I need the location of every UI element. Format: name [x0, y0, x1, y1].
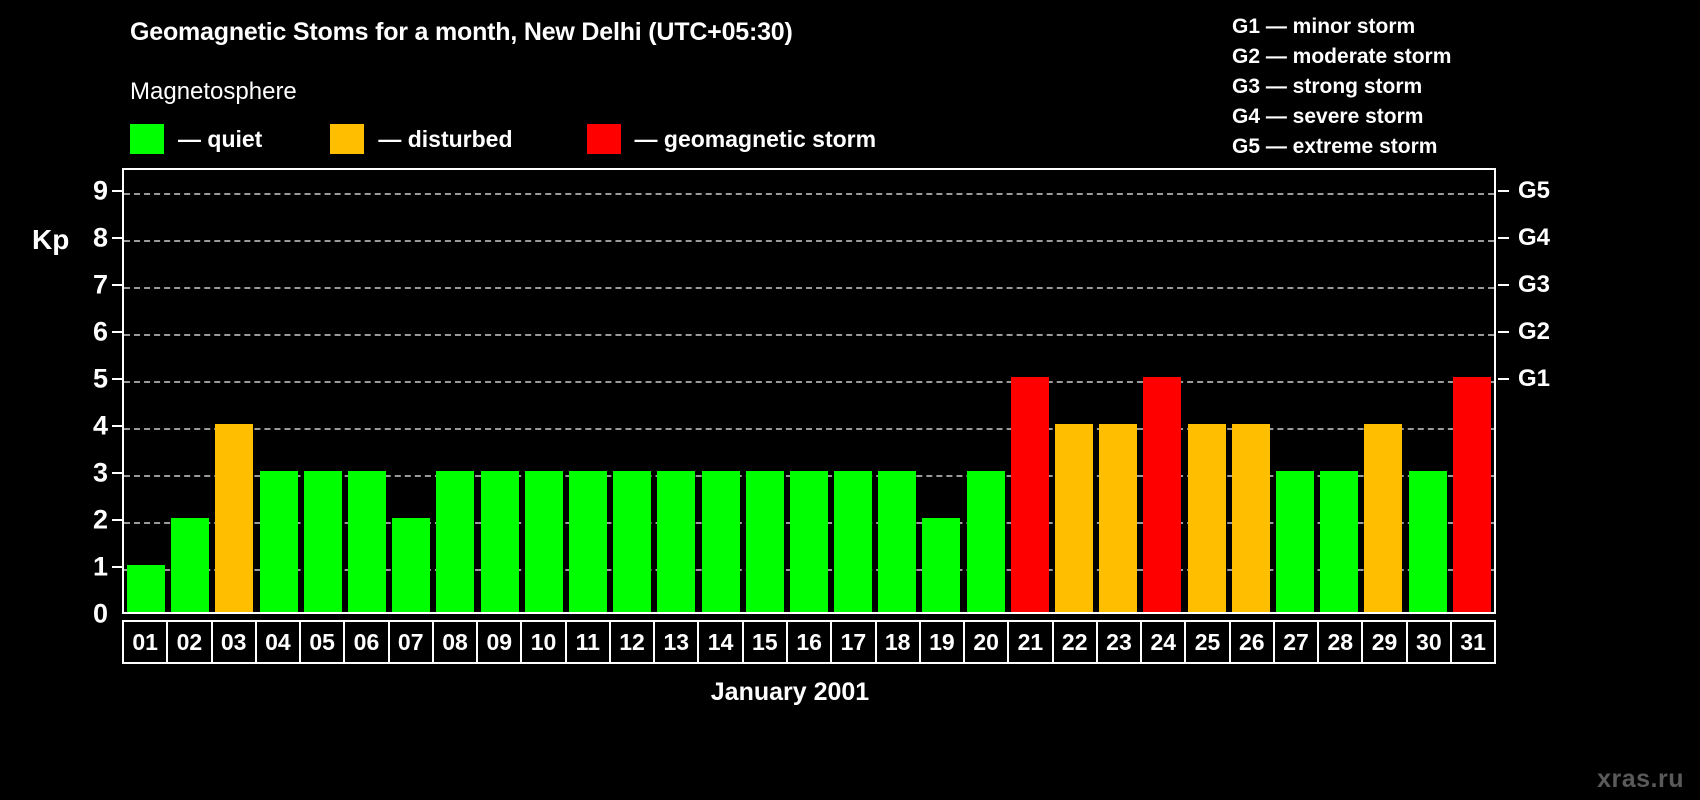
g-tick-label: G5	[1518, 177, 1550, 205]
bar[interactable]	[215, 424, 253, 612]
x-tick-label[interactable]: 27	[1275, 622, 1319, 662]
bar-cell[interactable]	[433, 170, 477, 612]
bar-cell[interactable]	[1008, 170, 1052, 612]
y-tick-label: 3	[93, 458, 108, 489]
g-tick-mark	[1498, 284, 1509, 286]
bar-cell[interactable]	[698, 170, 742, 612]
y-tick-mark	[112, 519, 122, 521]
bar[interactable]	[1232, 424, 1270, 612]
bar[interactable]	[525, 471, 563, 612]
y-tick-mark	[112, 190, 122, 192]
gscale-legend-line: G4 — severe storm	[1232, 102, 1451, 132]
bar[interactable]	[1320, 471, 1358, 612]
x-tick-label[interactable]: 30	[1408, 622, 1452, 662]
bar-cell[interactable]	[301, 170, 345, 612]
bar-cell[interactable]	[654, 170, 698, 612]
bar-cell[interactable]	[1361, 170, 1405, 612]
g-tick-label: G2	[1518, 318, 1550, 346]
y-tick-label: 1	[93, 552, 108, 583]
bar[interactable]	[392, 518, 430, 612]
bar[interactable]	[1276, 471, 1314, 612]
g-tick-label: G4	[1518, 224, 1550, 252]
bar[interactable]	[613, 471, 651, 612]
bar[interactable]	[657, 471, 695, 612]
y-tick-mark	[112, 237, 122, 239]
y-tick-mark	[112, 378, 122, 380]
legend-heading: Magnetosphere	[130, 78, 297, 106]
bar[interactable]	[790, 471, 828, 612]
legend-swatch-quiet-icon	[130, 124, 164, 154]
watermark: xras.ru	[1597, 765, 1684, 794]
bar[interactable]	[922, 518, 960, 612]
bar-cell[interactable]	[919, 170, 963, 612]
gscale-legend-line: G3 — strong storm	[1232, 72, 1451, 102]
legend-label-storm: — geomagnetic storm	[635, 126, 877, 153]
x-tick-label[interactable]: 09	[478, 622, 522, 662]
bar-cell[interactable]	[1140, 170, 1184, 612]
bar[interactable]	[1055, 424, 1093, 612]
bar-cell[interactable]	[743, 170, 787, 612]
legend-item-disturbed: — disturbed	[330, 124, 512, 154]
x-tick-label[interactable]: 08	[434, 622, 478, 662]
bar-cell[interactable]	[1450, 170, 1494, 612]
bar[interactable]	[304, 471, 342, 612]
x-tick-label[interactable]: 05	[301, 622, 345, 662]
x-tick-label[interactable]: 23	[1098, 622, 1142, 662]
y-tick-mark	[112, 284, 122, 286]
right-g-axis: G1G2G3G4G5	[1498, 168, 1698, 614]
g-tick-mark	[1498, 331, 1509, 333]
gscale-legend-line: G2 — moderate storm	[1232, 42, 1451, 72]
bar-cell[interactable]	[522, 170, 566, 612]
bar[interactable]	[878, 471, 916, 612]
y-tick-label: 8	[93, 223, 108, 254]
x-tick-label[interactable]: 15	[744, 622, 788, 662]
bar-cell[interactable]	[1052, 170, 1096, 612]
x-tick-label[interactable]: 02	[168, 622, 212, 662]
bar-cell[interactable]	[787, 170, 831, 612]
bar-cell[interactable]	[168, 170, 212, 612]
bar[interactable]	[1453, 377, 1491, 612]
bar-cell[interactable]	[1317, 170, 1361, 612]
y-axis-title: Kp	[32, 224, 69, 256]
bar[interactable]	[436, 471, 474, 612]
bar-cell[interactable]	[124, 170, 168, 612]
gscale-legend-line: G1 — minor storm	[1232, 12, 1451, 42]
bar[interactable]	[348, 471, 386, 612]
x-axis-day-labels: 0102030405060708091011121314151617181920…	[122, 620, 1496, 664]
legend-label-quiet: — quiet	[178, 126, 262, 153]
legend-item-storm: — geomagnetic storm	[587, 124, 877, 154]
bar-cell[interactable]	[1229, 170, 1273, 612]
page-title: Geomagnetic Stoms for a month, New Delhi…	[130, 18, 793, 47]
g-tick-mark	[1498, 378, 1509, 380]
bar[interactable]	[1364, 424, 1402, 612]
legend-swatch-disturbed-icon	[330, 124, 364, 154]
bar[interactable]	[1143, 377, 1181, 612]
y-tick-label: 7	[93, 270, 108, 301]
bars-layer	[124, 170, 1494, 612]
g-tick-mark	[1498, 190, 1509, 192]
g-tick-label: G1	[1518, 365, 1550, 393]
x-tick-label[interactable]: 03	[213, 622, 257, 662]
bar-cell[interactable]	[875, 170, 919, 612]
bar[interactable]	[702, 471, 740, 612]
y-tick-mark	[112, 425, 122, 427]
x-tick-label[interactable]: 10	[522, 622, 566, 662]
gscale-legend-line: G5 — extreme storm	[1232, 132, 1451, 162]
bar[interactable]	[1099, 424, 1137, 612]
bar[interactable]	[569, 471, 607, 612]
y-tick-label: 9	[93, 176, 108, 207]
y-tick-mark	[112, 472, 122, 474]
x-tick-label[interactable]: 17	[832, 622, 876, 662]
x-tick-label[interactable]: 24	[1142, 622, 1186, 662]
bar[interactable]	[481, 471, 519, 612]
bar[interactable]	[260, 471, 298, 612]
y-tick-label: 6	[93, 317, 108, 348]
x-tick-label[interactable]: 11	[567, 622, 611, 662]
legend-label-disturbed: — disturbed	[378, 126, 512, 153]
y-tick-label: 4	[93, 411, 108, 442]
bar-cell[interactable]	[1185, 170, 1229, 612]
bar[interactable]	[1188, 424, 1226, 612]
magnetosphere-legend: — quiet — disturbed — geomagnetic storm	[130, 122, 876, 156]
bar[interactable]	[1011, 377, 1049, 612]
bar-cell[interactable]	[610, 170, 654, 612]
x-axis-title: January 2001	[0, 678, 1700, 707]
gscale-legend: G1 — minor storm G2 — moderate storm G3 …	[1232, 12, 1451, 162]
bar-cell[interactable]	[257, 170, 301, 612]
x-tick-label[interactable]: 04	[257, 622, 301, 662]
y-tick-label: 5	[93, 364, 108, 395]
bar-cell[interactable]	[478, 170, 522, 612]
bar[interactable]	[171, 518, 209, 612]
x-tick-label[interactable]: 29	[1363, 622, 1407, 662]
x-tick-label[interactable]: 12	[611, 622, 655, 662]
x-tick-label[interactable]: 16	[788, 622, 832, 662]
bar-cell[interactable]	[831, 170, 875, 612]
plot-area	[122, 168, 1496, 614]
x-tick-label[interactable]: 07	[390, 622, 434, 662]
bar[interactable]	[834, 471, 872, 612]
bar-cell[interactable]	[1405, 170, 1449, 612]
x-tick-label[interactable]: 22	[1054, 622, 1098, 662]
bar[interactable]	[1409, 471, 1447, 612]
x-tick-label[interactable]: 18	[877, 622, 921, 662]
bar-cell[interactable]	[566, 170, 610, 612]
bar-cell[interactable]	[964, 170, 1008, 612]
x-tick-label[interactable]: 26	[1231, 622, 1275, 662]
bar[interactable]	[967, 471, 1005, 612]
g-tick-label: G3	[1518, 271, 1550, 299]
x-tick-label[interactable]: 28	[1319, 622, 1363, 662]
y-tick-mark	[112, 566, 122, 568]
chart-root: Geomagnetic Stoms for a month, New Delhi…	[0, 0, 1700, 800]
bar[interactable]	[746, 471, 784, 612]
y-tick-label: 2	[93, 505, 108, 536]
g-tick-mark	[1498, 237, 1509, 239]
bar[interactable]	[127, 565, 165, 612]
x-tick-label[interactable]: 13	[655, 622, 699, 662]
bar-cell[interactable]	[389, 170, 433, 612]
bar-cell[interactable]	[1096, 170, 1140, 612]
x-tick-label[interactable]: 06	[345, 622, 389, 662]
y-tick-label: 0	[93, 599, 108, 630]
x-tick-label[interactable]: 01	[124, 622, 168, 662]
bar-cell[interactable]	[212, 170, 256, 612]
x-tick-label[interactable]: 21	[1009, 622, 1053, 662]
bar-cell[interactable]	[1273, 170, 1317, 612]
legend-swatch-storm-icon	[587, 124, 621, 154]
y-tick-mark	[112, 331, 122, 333]
legend-item-quiet: — quiet	[130, 124, 262, 154]
x-tick-label[interactable]: 25	[1186, 622, 1230, 662]
x-tick-label[interactable]: 14	[699, 622, 743, 662]
x-tick-label[interactable]: 20	[965, 622, 1009, 662]
x-tick-label[interactable]: 19	[921, 622, 965, 662]
x-tick-label[interactable]: 31	[1452, 622, 1494, 662]
bar-cell[interactable]	[345, 170, 389, 612]
